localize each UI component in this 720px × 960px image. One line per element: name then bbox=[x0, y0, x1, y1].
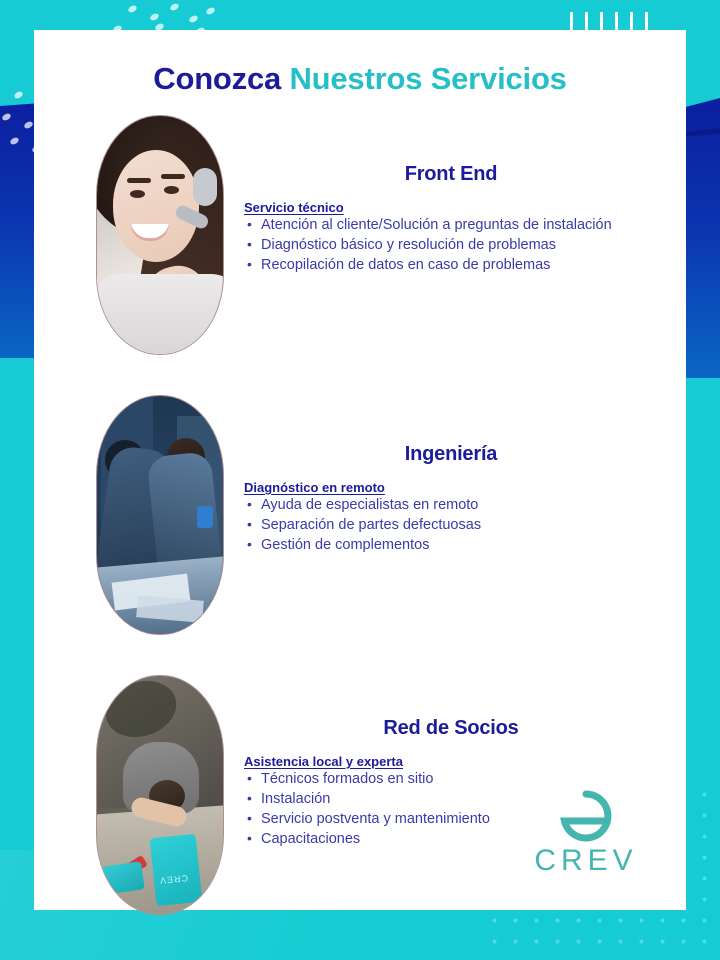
service-photo-ingenieria bbox=[96, 395, 224, 635]
case-brand-label: CREV bbox=[159, 873, 189, 886]
service-bullet-item: Recopilación de datos en caso de problem… bbox=[244, 256, 658, 275]
engineers-photo bbox=[97, 396, 223, 634]
service-row-ingenieria: Ingeniería Diagnóstico en remoto Ayuda d… bbox=[34, 395, 686, 635]
crev-logo: CREV bbox=[530, 788, 642, 876]
field-technician-photo: CREV bbox=[97, 676, 223, 914]
service-bullet-item: Gestión de complementos bbox=[244, 536, 658, 555]
service-subheading: Servicio técnico bbox=[244, 200, 658, 215]
service-row-front-end: Front End Servicio técnico Atención al c… bbox=[34, 115, 686, 355]
service-bullet-list: Ayuda de especialistas en remotoSeparaci… bbox=[244, 496, 658, 555]
service-heading: Ingeniería bbox=[244, 443, 658, 466]
service-subheading: Asistencia local y experta bbox=[244, 754, 658, 769]
service-subheading: Diagnóstico en remoto bbox=[244, 480, 658, 495]
page-title-part1: Conozca bbox=[153, 61, 289, 96]
service-bullet-list: Atención al cliente/Solución a preguntas… bbox=[244, 216, 658, 275]
service-photo-red-de-socios: CREV bbox=[96, 675, 224, 915]
service-heading: Front End bbox=[244, 163, 658, 186]
service-photo-front-end bbox=[96, 115, 224, 355]
service-bullet-item: Atención al cliente/Solución a preguntas… bbox=[244, 216, 658, 235]
service-bullet-item: Diagnóstico básico y resolución de probl… bbox=[244, 236, 658, 255]
crev-wordmark: CREV bbox=[530, 846, 642, 876]
service-heading: Red de Socios bbox=[244, 717, 658, 740]
page-title-part2: Nuestros Servicios bbox=[289, 61, 566, 96]
service-bullet-item: Ayuda de especialistas en remoto bbox=[244, 496, 658, 515]
crev-e-icon bbox=[555, 788, 617, 844]
page-title: Conozca Nuestros Servicios bbox=[34, 30, 686, 96]
service-bullet-item: Técnicos formados en sitio bbox=[244, 770, 658, 789]
service-content-ingenieria: Ingeniería Diagnóstico en remoto Ayuda d… bbox=[224, 395, 686, 635]
service-content-front-end: Front End Servicio técnico Atención al c… bbox=[224, 115, 686, 355]
service-bullet-item: Separación de partes defectuosas bbox=[244, 516, 658, 535]
services-card: Conozca Nuestros Servicios Front End Ser… bbox=[34, 30, 686, 910]
headset-agent-photo bbox=[97, 116, 223, 354]
tick-marks-decoration bbox=[570, 12, 648, 30]
